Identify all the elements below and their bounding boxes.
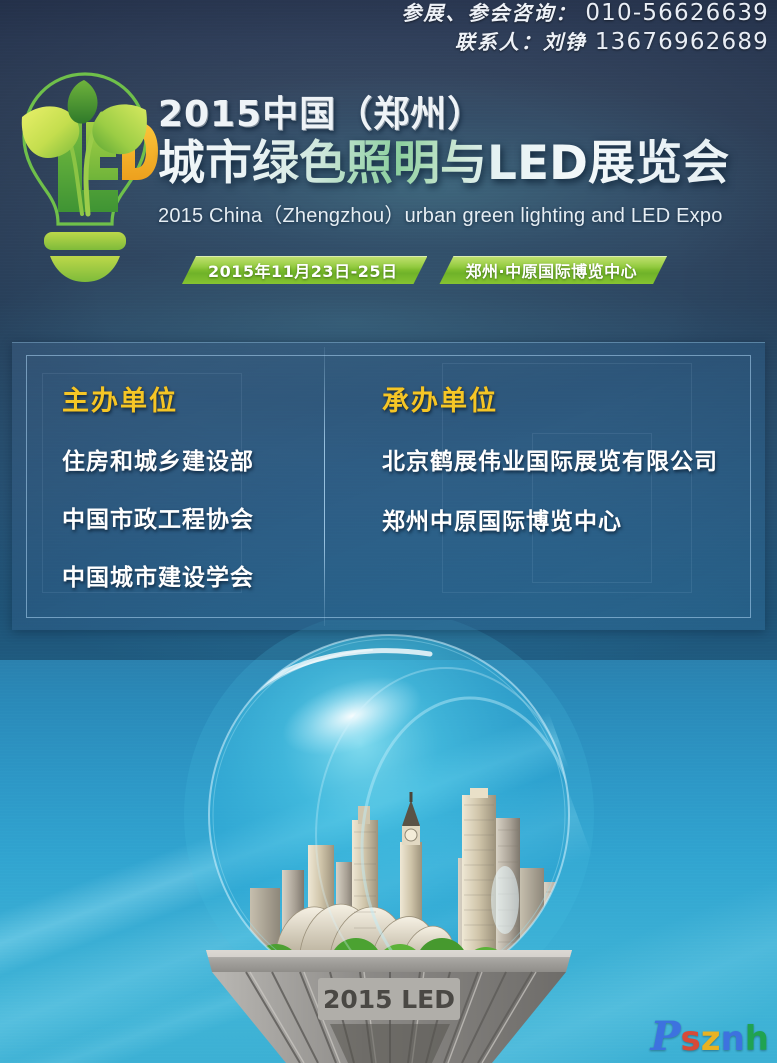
banner-row: 2015年11月23日-25日 郑州·中原国际博览中心 — [182, 256, 667, 284]
led-lightbulb-leaf-logo — [6, 62, 164, 290]
led-heatsink-base: 2015 LED — [206, 950, 572, 1063]
logo-bulb-base-1 — [44, 232, 126, 250]
organizers-panel: 主办单位 住房和城乡建设部 中国市政工程协会 中国城市建设学会 承办单位 北京鹤… — [12, 342, 765, 630]
watermark-letter-n: n — [721, 1019, 745, 1059]
watermark-letter-z: z — [701, 1019, 721, 1059]
title-line-2: 城市绿色照明与LED展览会 — [158, 138, 776, 190]
organizer-item-1: 北京鹤展伟业国际展览有限公司 — [382, 442, 718, 476]
organizer-item-2: 郑州中原国际博览中心 — [382, 502, 718, 536]
heatsink-inner-well — [330, 1024, 450, 1063]
poster-root: 参展、参会咨询： 010-56626639 联系人：刘铮 13676962689 — [0, 0, 777, 1063]
artwork-svg: 2015 LED — [0, 620, 777, 1063]
host-item-2: 中国市政工程协会 — [62, 500, 254, 534]
building-right-6 — [592, 888, 618, 968]
contact-row-person: 联系人：刘铮 13676962689 — [401, 31, 769, 54]
venue-banner: 郑州·中原国际博览中心 — [439, 256, 667, 284]
heatsink-top-edge-highlight — [206, 950, 572, 957]
organizer-heading: 承办单位 — [382, 379, 718, 418]
title-line-1: 2015中国（郑州） — [158, 96, 776, 135]
organizer-column-organizer: 承办单位 北京鹤展伟业国际展览有限公司 郑州中原国际博览中心 — [382, 379, 718, 536]
logo-leaf-top — [68, 80, 98, 124]
organizer-column-host: 主办单位 住房和城乡建设部 中国市政工程协会 中国城市建设学会 — [62, 379, 254, 592]
host-heading: 主办单位 — [62, 379, 254, 418]
watermark-letter-h: h — [745, 1019, 769, 1059]
contact-person-label: 联系人：刘铮 — [455, 32, 587, 52]
host-item-1: 住房和城乡建设部 — [62, 442, 254, 476]
watermark-letter-s: s — [681, 1019, 701, 1059]
logo-bulb-base-2 — [50, 256, 120, 282]
glass-globe-city-artwork: 2015 LED — [0, 620, 777, 1063]
contact-header: 参展、参会咨询： 010-56626639 联系人：刘铮 13676962689 — [401, 2, 769, 54]
psznh-watermark: Psznh — [650, 1017, 769, 1057]
logo-svg — [6, 62, 164, 290]
contact-person-phone: 13676962689 — [595, 31, 769, 54]
globe-lens-flare — [491, 866, 519, 934]
inquiry-phone: 010-56626639 — [585, 2, 769, 25]
title-english: 2015 China（Zhengzhou）urban green lightin… — [158, 199, 776, 228]
watermark-letter-p: P — [650, 1013, 680, 1060]
logo-leaf-right — [92, 104, 147, 154]
panel-column-divider — [324, 347, 325, 626]
bulb-label-text: 2015 LED — [323, 985, 455, 1014]
contact-row-inquiry: 参展、参会咨询： 010-56626639 — [401, 2, 769, 25]
date-banner: 2015年11月23日-25日 — [182, 256, 427, 284]
inquiry-label: 参展、参会咨询： — [401, 3, 577, 23]
date-banner-label: 2015年11月23日-25日 — [208, 258, 397, 282]
host-item-3: 中国城市建设学会 — [62, 558, 254, 592]
title-block: 2015中国（郑州） 城市绿色照明与LED展览会 2015 China（Zhen… — [158, 96, 776, 228]
venue-banner-label: 郑州·中原国际博览中心 — [465, 258, 637, 282]
